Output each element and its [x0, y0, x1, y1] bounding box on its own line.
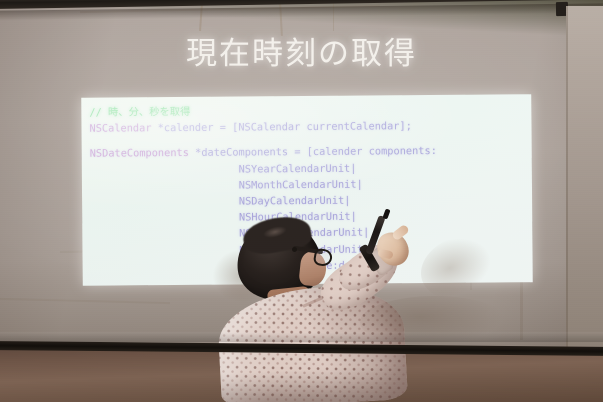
glasses-lens: [313, 248, 334, 268]
projection-photo-scene: 現在時刻の取得 // 時、分、秒を取得 NSCalendar *calender…: [0, 0, 603, 402]
screen-bottom-glow: [0, 332, 603, 342]
glasses-hinge: [292, 247, 297, 252]
pen-tip: [382, 208, 390, 219]
